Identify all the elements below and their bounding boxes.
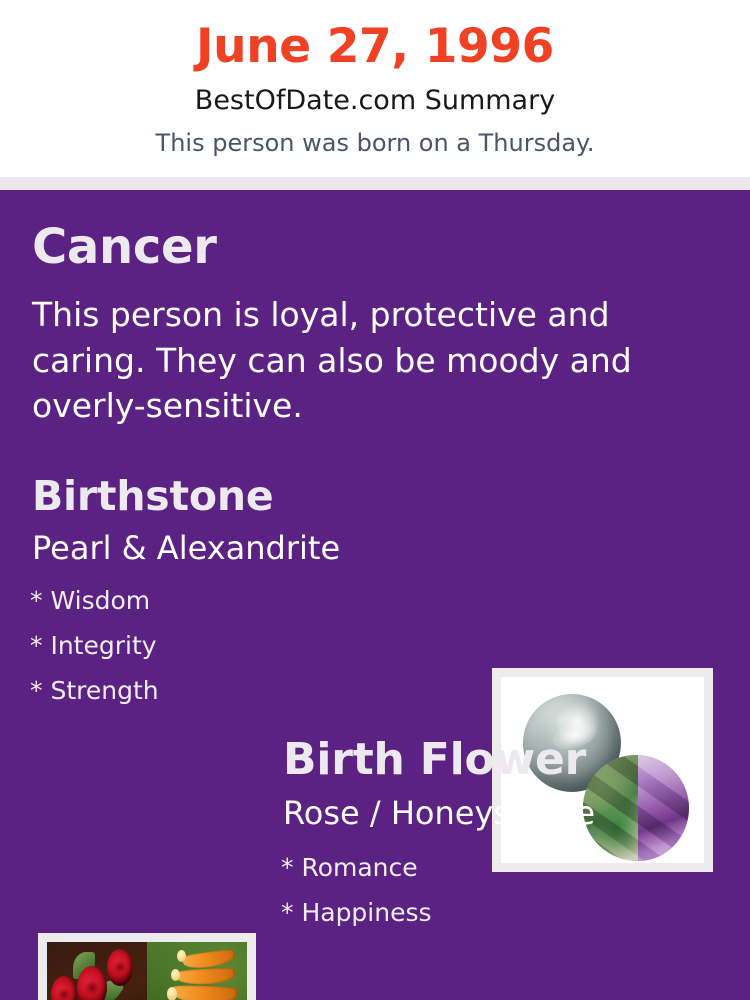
red-roses-image-half: [47, 942, 147, 1000]
list-item: * Happiness: [281, 890, 701, 935]
header-section: June 27, 1996 BestOfDate.com Summary Thi…: [0, 0, 750, 177]
orange-honeysuckle-image-half: [147, 942, 247, 1000]
zodiac-description: This person is loyal, protective and car…: [32, 292, 652, 429]
date-summary-infographic: June 27, 1996 BestOfDate.com Summary Thi…: [0, 0, 750, 1000]
birthstone-heading: Birthstone: [32, 476, 273, 517]
birthstone-names: Pearl & Alexandrite: [32, 532, 340, 564]
list-item: * Integrity: [30, 623, 450, 668]
list-item: * Wisdom: [30, 578, 450, 623]
birth-flower-names: Rose / Honeysuckle: [283, 797, 595, 829]
content-panel: Cancer This person is loyal, protective …: [0, 190, 750, 1000]
birthstone-trait-list: * Wisdom * Integrity * Strength: [30, 578, 450, 713]
birth-flower-trait-list: * Romance * Happiness: [281, 845, 701, 935]
list-item: * Romance: [281, 845, 701, 890]
header-divider: [0, 177, 750, 190]
birth-flower-photo: [47, 942, 247, 1000]
birth-flower-photo-frame: [38, 933, 256, 1000]
list-item: * Strength: [30, 668, 450, 713]
site-summary-label: BestOfDate.com Summary: [0, 86, 750, 116]
weekday-statement: This person was born on a Thursday.: [0, 130, 750, 156]
birth-flower-heading: Birth Flower: [283, 738, 586, 782]
page-title-date: June 27, 1996: [0, 22, 750, 73]
zodiac-sign-heading: Cancer: [32, 223, 217, 271]
